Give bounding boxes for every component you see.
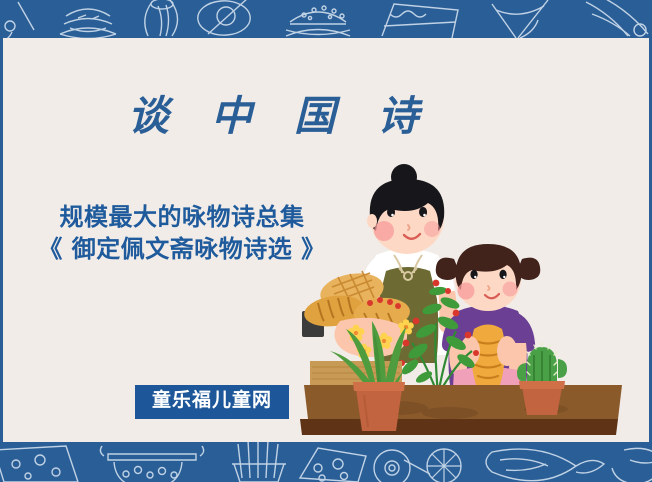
slide-content-area: 谈 中 国 诗 规模最大的咏物诗总集 《 御定佩文斋咏物诗选 》 童乐福儿童网	[3, 38, 649, 442]
bottom-border-pattern	[0, 442, 652, 482]
slide-canvas: 谈 中 国 诗 规模最大的咏物诗总集 《 御定佩文斋咏物诗选 》 童乐福儿童网	[0, 0, 652, 482]
page-title: 谈 中 国 诗	[3, 96, 543, 137]
illustration-two-children-at-garden-table	[298, 163, 628, 442]
watermark-badge: 童乐福儿童网	[135, 385, 289, 419]
top-border-pattern	[0, 0, 652, 38]
